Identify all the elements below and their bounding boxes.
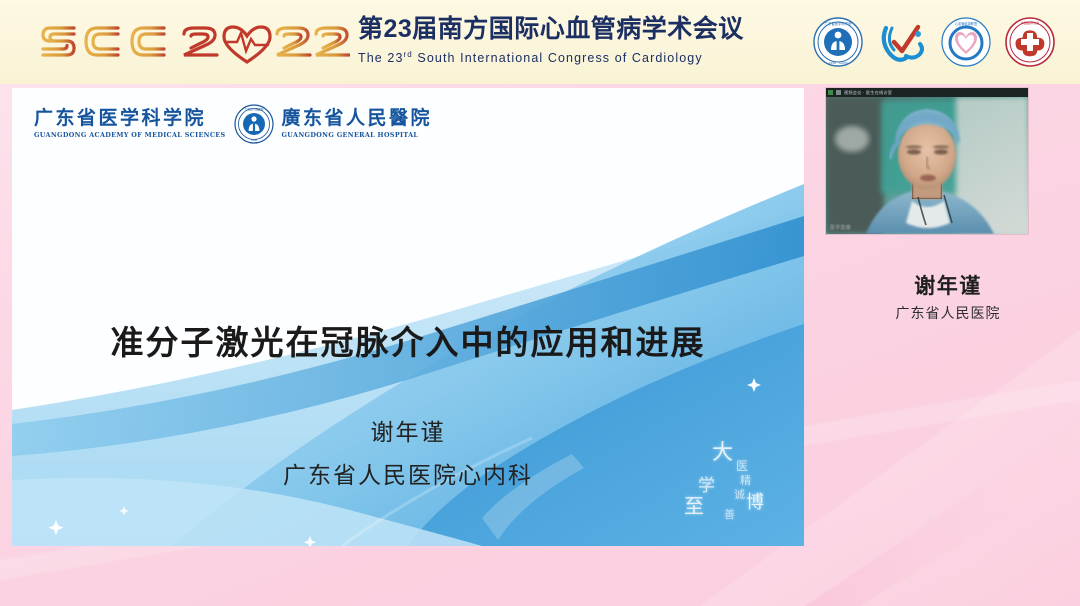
video-window-dot [836, 90, 841, 95]
hospital-seal-icon: 广东省人民医院 1946 [234, 104, 274, 144]
calligraphy-char-7: 善 [724, 506, 735, 523]
conference-title-en-pre: The 23 [358, 51, 404, 65]
hospital-brand-right: 廣东省人民醫院 GUANGDONG GENERAL HOSPITAL [282, 108, 433, 140]
heart-circle-emblem-icon: 心血管健康联盟 [940, 16, 992, 68]
svg-text:中国医师协会: 中国医师协会 [1021, 20, 1039, 25]
organizer-logo-row: 广东省医学科学院 1958 · GAMS 心血管健康联盟 [812, 16, 1056, 68]
slide-speaker-name: 谢年谨 [12, 413, 804, 447]
scc-2022-logo [34, 14, 350, 70]
svg-text:心血管健康联盟: 心血管健康联盟 [955, 21, 978, 26]
calligraphy-char-3: 诚 [734, 486, 745, 503]
guangdong-academy-medical-sciences-seal-icon: 广东省医学科学院 1958 · GAMS [812, 16, 864, 68]
speaker-video-feed[interactable]: 视频会议 · 医生在线诊室 医学直播 [826, 88, 1028, 234]
svg-text:1946: 1946 [250, 139, 257, 142]
conference-title-cn: 第23届南方国际心血管病学术会议 [358, 14, 798, 44]
video-status-dot [828, 90, 833, 95]
speaker-panel: 视频会议 · 医生在线诊室 医学直播 谢年谨 广东省人民医院 [816, 88, 1080, 558]
conference-title-group: 第23届南方国际心血管病学术会议 The 23rd South Internat… [358, 14, 798, 67]
conference-title-en-post: South International Congress of Cardiolo… [413, 51, 703, 65]
svg-text:1958 · GAMS: 1958 · GAMS [828, 61, 847, 65]
hospital-brand-right-cn: 廣东省人民醫院 [282, 108, 433, 129]
slide-hospital-header: 广东省医学科学院 GUANGDONG ACADEMY OF MEDICAL SC… [12, 88, 804, 150]
video-watermark: 医学直播 [830, 224, 851, 231]
red-cross-clover-seal-icon: 中国医师协会 [1004, 16, 1056, 68]
slide-title: 准分子激光在冠脉介入中的应用和进展 [12, 316, 804, 364]
hospital-brand-right-en: GUANGDONG GENERAL HOSPITAL [282, 131, 433, 140]
video-titlebar-text: 视频会议 · 医生在线诊室 [844, 90, 892, 96]
panel-speaker-affiliation: 广东省人民医院 [816, 303, 1080, 323]
slide-calligraphy-watermark: 大 医 精 诚 博 学 至 善 [684, 444, 776, 528]
hospital-brand-left: 广东省医学科学院 GUANGDONG ACADEMY OF MEDICAL SC… [34, 108, 226, 140]
conference-title-en: The 23rd South International Congress of… [358, 46, 798, 67]
presentation-slide[interactable]: 广东省医学科学院 GUANGDONG ACADEMY OF MEDICAL SC… [12, 88, 804, 546]
conference-title-en-ordinal: rd [404, 50, 413, 59]
calligraphy-char-4: 博 [746, 494, 764, 511]
svg-text:广东省人民医院: 广东省人民医院 [244, 108, 263, 112]
hospital-brand-lockup: 广东省医学科学院 GUANGDONG ACADEMY OF MEDICAL SC… [34, 104, 432, 144]
speaker-video-scene [826, 97, 1028, 234]
calligraphy-char-0: 大 [712, 444, 733, 461]
calligraphy-char-5: 学 [698, 478, 715, 495]
svg-text:广东省医学科学院: 广东省医学科学院 [824, 21, 852, 26]
video-window-titlebar: 视频会议 · 医生在线诊室 [826, 88, 1028, 97]
panel-speaker-name: 谢年谨 [816, 270, 1080, 300]
calligraphy-char-6: 至 [684, 498, 704, 515]
hospital-brand-left-cn: 广东省医学科学院 [34, 108, 226, 129]
hospital-brand-left-en: GUANGDONG ACADEMY OF MEDICAL SCIENCES [34, 131, 226, 140]
conference-header: 第23届南方国际心血管病学术会议 The 23rd South Internat… [0, 0, 1080, 84]
broadcast-page: 第23届南方国际心血管病学术会议 The 23rd South Internat… [0, 0, 1080, 606]
cardiology-check-badge-icon [876, 16, 928, 68]
